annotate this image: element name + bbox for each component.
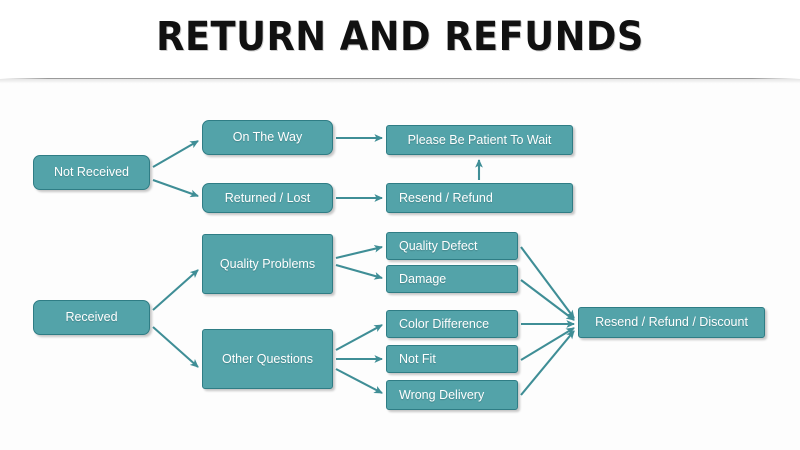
edge-quality-defect-to-final [521,247,574,318]
page-title: RETURN AND REFUNDS [32,14,768,60]
node-resend-refund[interactable]: Resend / Refund [386,183,573,213]
slide-canvas: RETURN AND REFUNDS [0,0,800,450]
node-returned-lost[interactable]: Returned / Lost [202,183,333,213]
node-label: Wrong Delivery [399,388,484,402]
edge-damage-to-final [521,280,574,320]
node-quality-defect[interactable]: Quality Defect [386,232,518,260]
node-resend-refund-discount[interactable]: Resend / Refund / Discount [578,307,765,338]
edge-wrong-delivery-to-final [521,331,574,395]
node-label: Resend / Refund / Discount [595,315,748,329]
edge-not-fit-to-final [521,328,574,360]
node-not-received[interactable]: Not Received [33,155,150,190]
node-label: Returned / Lost [225,191,310,205]
node-label: Color Difference [399,317,489,331]
node-label: Quality Problems [220,257,315,271]
node-label: Other Questions [222,352,313,366]
node-label: On The Way [233,130,302,144]
edge-other-questions-to-color-difference [336,325,382,350]
node-other-questions[interactable]: Other Questions [202,329,333,389]
edge-received-to-other-questions [153,327,198,367]
node-quality-problems[interactable]: Quality Problems [202,234,333,294]
node-received[interactable]: Received [33,300,150,335]
edge-received-to-quality-problems [153,270,198,310]
title-bar: RETURN AND REFUNDS [0,0,800,78]
edge-other-questions-to-wrong-delivery [336,369,382,393]
node-label: Please Be Patient To Wait [408,133,552,147]
node-label: Quality Defect [399,239,478,253]
node-color-difference[interactable]: Color Difference [386,310,518,338]
edge-quality-problems-to-quality-defect [336,247,382,258]
edge-not-received-to-returned-lost [153,180,198,196]
node-on-the-way[interactable]: On The Way [202,120,333,155]
node-label: Received [65,310,117,324]
edge-quality-problems-to-damage [336,265,382,278]
node-label: Not Received [54,165,129,179]
node-not-fit[interactable]: Not Fit [386,345,518,373]
flowchart-area: Not Received On The Way Returned / Lost … [0,84,800,450]
node-label: Resend / Refund [399,191,493,205]
edge-not-received-to-on-the-way [153,141,198,167]
node-wrong-delivery[interactable]: Wrong Delivery [386,380,518,410]
node-label: Not Fit [399,352,436,366]
node-label: Damage [399,272,446,286]
node-please-be-patient-to-wait[interactable]: Please Be Patient To Wait [386,125,573,155]
node-damage[interactable]: Damage [386,265,518,293]
